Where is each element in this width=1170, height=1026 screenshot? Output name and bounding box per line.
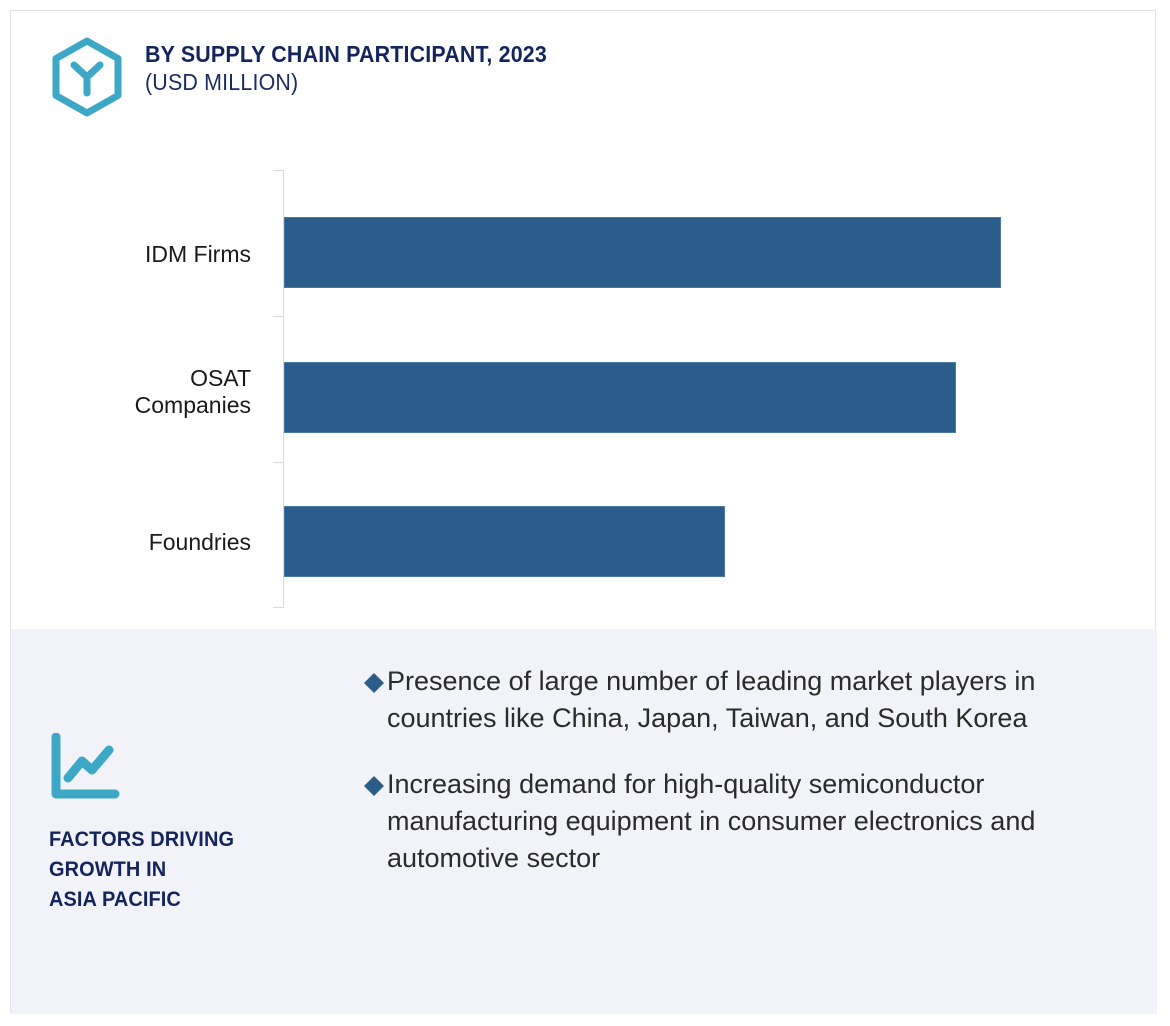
panel-bullet-list: Presence of large number of leading mark…: [363, 663, 1133, 877]
category-label-osat-line2: Companies: [135, 392, 251, 418]
panel-heading-line-3: ASIA PACIFIC: [49, 885, 325, 915]
list-item: Increasing demand for high-quality semic…: [363, 766, 1133, 878]
axis-tick: [273, 170, 284, 171]
line-chart-trend-icon: [49, 733, 123, 801]
diamond-bullet-icon: [363, 775, 385, 797]
factors-panel: FACTORS DRIVING GROWTH IN ASIA PACIFIC P…: [11, 629, 1157, 1014]
infographic-card: BY SUPPLY CHAIN PARTICIPANT, 2023 (USD M…: [10, 10, 1156, 1013]
bar-osat-companies[interactable]: [284, 362, 956, 433]
bar-idm-firms[interactable]: [284, 217, 1001, 288]
category-label-osat-line1: OSAT: [190, 365, 251, 391]
bar-chart: IDM Firms OSAT Companies Foundries: [11, 11, 1157, 629]
list-item: Presence of large number of leading mark…: [363, 663, 1133, 738]
panel-heading: FACTORS DRIVING GROWTH IN ASIA PACIFIC: [49, 825, 325, 914]
panel-heading-line-1: FACTORS DRIVING: [49, 825, 325, 855]
axis-tick: [273, 316, 284, 317]
bullet-text: Increasing demand for high-quality semic…: [387, 766, 1117, 878]
category-label-foundries: Foundries: [51, 529, 251, 556]
bullet-text: Presence of large number of leading mark…: [387, 663, 1117, 738]
category-label-idm-firms: IDM Firms: [51, 241, 251, 268]
category-label-osat-companies: OSAT Companies: [51, 365, 251, 419]
bar-foundries[interactable]: [284, 506, 725, 577]
axis-tick: [273, 462, 284, 463]
chart-category-axis: [273, 170, 284, 608]
diamond-bullet-icon: [363, 672, 385, 694]
panel-left-column: FACTORS DRIVING GROWTH IN ASIA PACIFIC: [49, 733, 339, 914]
panel-heading-line-2: GROWTH IN: [49, 855, 325, 885]
axis-tick: [273, 607, 284, 608]
